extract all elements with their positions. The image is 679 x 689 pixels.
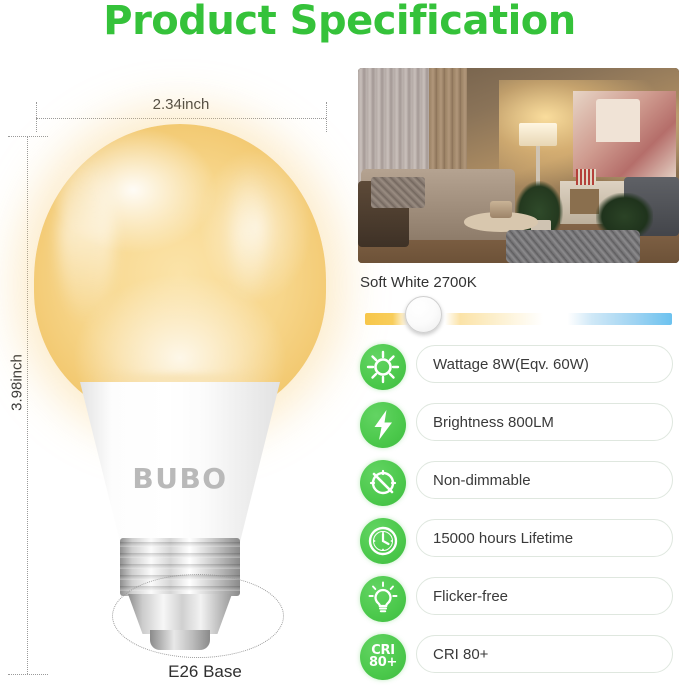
- height-dimension-line: [27, 136, 28, 674]
- bulb-globe-highlight-left: [58, 154, 114, 324]
- spec-label-flicker-free: Flicker-free: [416, 577, 673, 615]
- clock-icon: [360, 518, 406, 564]
- width-dimension-line: [36, 118, 326, 119]
- spec-label-non-dimmable: Non-dimmable: [416, 461, 673, 499]
- width-dimension-label: 2.34inch: [36, 96, 326, 113]
- specification-panel: Soft White 2700K: [358, 0, 679, 676]
- height-dimension-tick-bottom: [8, 674, 48, 675]
- spec-row-wattage: Wattage 8W(Eqv. 60W): [358, 341, 679, 399]
- room-scene-photo: [358, 68, 679, 263]
- bulb-diagram-panel: 2.34inch 3.98inch BUBO E26 Base: [0, 44, 352, 676]
- spec-row-non-dimmable: Non-dimmable: [358, 457, 679, 515]
- color-temperature-label: Soft White 2700K: [360, 274, 477, 291]
- sun-icon: [360, 344, 406, 390]
- color-temperature-slider-knob[interactable]: [405, 296, 442, 333]
- spec-row-brightness: Brightness 800LM: [358, 399, 679, 457]
- width-dimension-tick-right: [326, 102, 327, 132]
- cri-icon-line-2: 80+: [369, 657, 397, 669]
- spec-label-cri: CRI 80+: [416, 635, 673, 673]
- lightning-icon: [360, 402, 406, 448]
- bulb-icon: [360, 576, 406, 622]
- height-dimension-tick-top: [8, 136, 48, 137]
- height-dimension-label: 3.98inch: [9, 333, 26, 433]
- cri-icon: CRI 80+: [360, 634, 406, 680]
- spec-row-cri: CRI 80+ CRI 80+: [358, 631, 679, 689]
- spec-label-lifetime: 15000 hours Lifetime: [416, 519, 673, 557]
- no-dimmer-icon: [360, 460, 406, 506]
- spec-label-wattage: Wattage 8W(Eqv. 60W): [416, 345, 673, 383]
- spec-list: Wattage 8W(Eqv. 60W) Brightness 800LM: [358, 341, 679, 689]
- spec-label-brightness: Brightness 800LM: [416, 403, 673, 441]
- base-callout-ellipse: [112, 574, 284, 658]
- spec-row-flicker-free: Flicker-free: [358, 573, 679, 631]
- spec-row-lifetime: 15000 hours Lifetime: [358, 515, 679, 573]
- base-label: E26 Base: [60, 662, 350, 682]
- bulb-globe-highlight-right: [232, 164, 266, 304]
- brand-logo: BUBO: [80, 462, 280, 495]
